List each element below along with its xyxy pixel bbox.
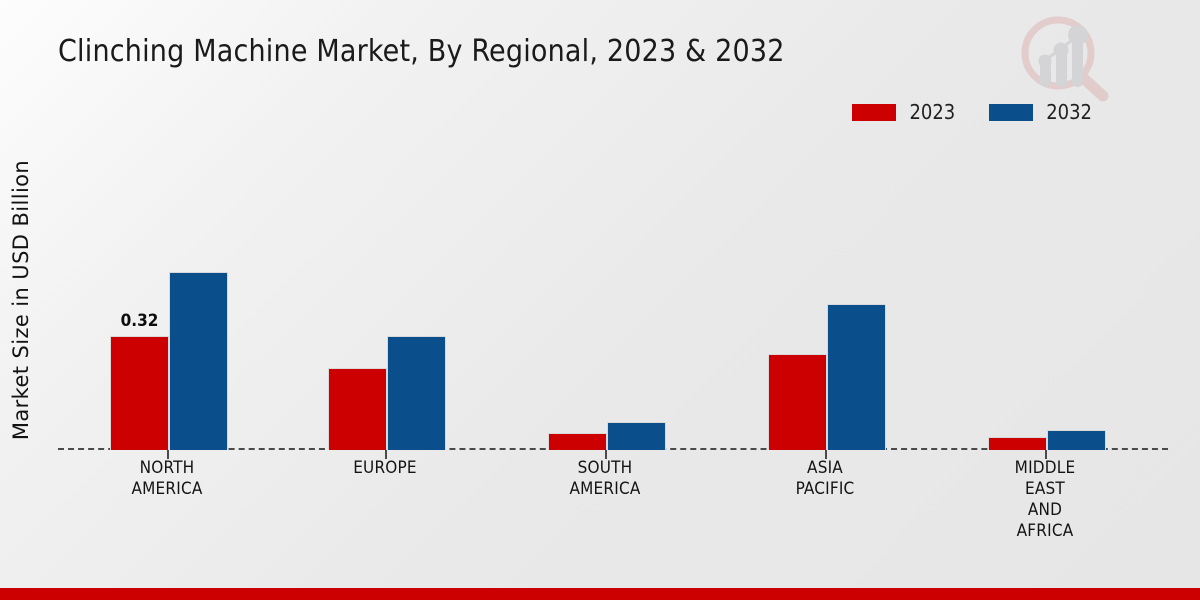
bar-2032-middle-east-and-africa[interactable] [1047, 430, 1106, 450]
page-title: Clinching Machine Market, By Regional, 2… [58, 34, 785, 69]
chart-figure: Clinching Machine Market, By Regional, 2… [0, 0, 1200, 600]
magnifier-bar-chart-logo-icon [1010, 8, 1114, 104]
category-label-line: ASIA [730, 458, 920, 479]
legend-item-2032[interactable]: 2032 [989, 100, 1092, 124]
bar-value-label: 0.32 [121, 311, 159, 331]
legend-label-2023: 2023 [909, 100, 955, 124]
legend-swatch-2023 [852, 104, 896, 121]
bar-2032-north-america[interactable] [169, 272, 228, 450]
category-label: SOUTHAMERICA [510, 458, 700, 500]
category-label-line: AMERICA [510, 479, 700, 500]
category-label-line: NORTH [72, 458, 262, 479]
category-label-line: PACIFIC [730, 479, 920, 500]
bar-pair: 0.32 [110, 150, 228, 450]
legend-swatch-2032 [989, 104, 1033, 121]
bar-2023-middle-east-and-africa[interactable] [988, 437, 1047, 450]
bar-pair [548, 150, 666, 450]
bar-2023-asia-pacific[interactable] [768, 354, 827, 450]
bar-pair [988, 150, 1106, 450]
plot-area: 0.32NORTHAMERICAEUROPESOUTHAMERICAASIAPA… [58, 150, 1168, 450]
category-label-line: EAST [950, 479, 1140, 500]
category-label: MIDDLEEASTANDAFRICA [950, 458, 1140, 542]
y-axis-title: Market Size in USD Billion [4, 0, 38, 600]
bar-2032-europe[interactable] [387, 336, 446, 450]
category-label: EUROPE [290, 458, 480, 479]
category-label-line: MIDDLE [950, 458, 1140, 479]
bar-2023-north-america[interactable]: 0.32 [110, 336, 169, 450]
bar-2023-europe[interactable] [328, 368, 387, 450]
category-label-line: EUROPE [290, 458, 480, 479]
bar-2032-asia-pacific[interactable] [827, 304, 886, 450]
legend-label-2032: 2032 [1046, 100, 1092, 124]
category-label-line: AMERICA [72, 479, 262, 500]
category-label: ASIAPACIFIC [730, 458, 920, 500]
legend-item-2023[interactable]: 2023 [852, 100, 955, 124]
bar-2032-south-america[interactable] [607, 422, 666, 450]
chart-legend: 2023 2032 [852, 100, 1092, 124]
category-label-line: AFRICA [950, 521, 1140, 542]
footer-accent-bar [0, 588, 1200, 600]
bar-2023-south-america[interactable] [548, 433, 607, 450]
category-label: NORTHAMERICA [72, 458, 262, 500]
category-label-line: AND [950, 500, 1140, 521]
bar-pair [768, 150, 886, 450]
bar-pair [328, 150, 446, 450]
category-label-line: SOUTH [510, 458, 700, 479]
